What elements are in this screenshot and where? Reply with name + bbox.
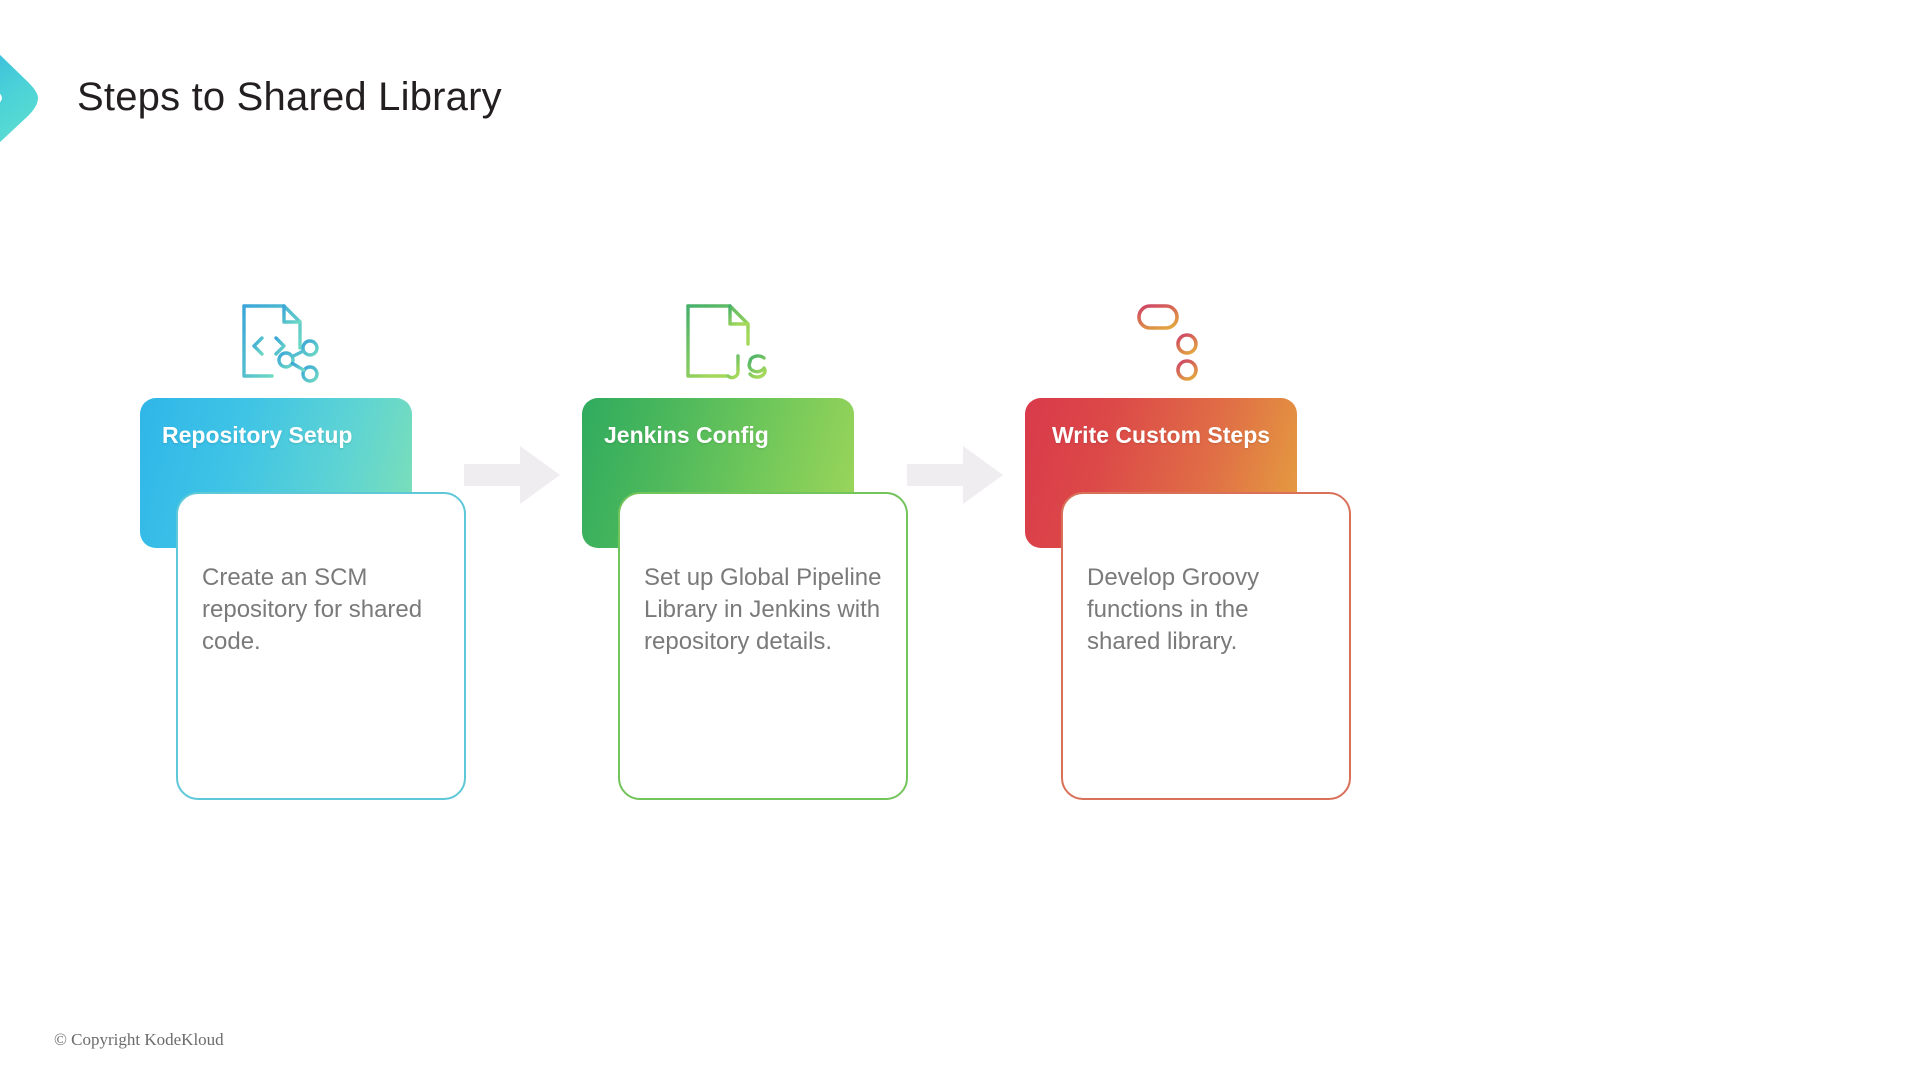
step-3-header-label: Write Custom Steps (1052, 420, 1270, 451)
arrow-right-block-icon-2 (905, 440, 1005, 510)
step-1-body-text: Create an SCM repository for shared code… (202, 562, 442, 658)
step-2-header-label: Jenkins Config (600, 420, 836, 451)
step-2-body-text: Set up Global Pipeline Library in Jenkin… (644, 562, 884, 658)
process-step-3[interactable]: Write Custom Steps Develop Groovy functi… (1025, 300, 1355, 820)
js-file-icon (674, 300, 770, 386)
page-title: Steps to Shared Library (77, 75, 502, 120)
step-1-body: Create an SCM repository for shared code… (176, 492, 466, 800)
step-2-body: Set up Global Pipeline Library in Jenkin… (618, 492, 908, 800)
arrow-right-block-icon-1 (462, 440, 562, 510)
branch-tree-icon (1117, 300, 1213, 386)
process-step-2[interactable]: Jenkins Config Set up Global Pipeline Li… (582, 300, 912, 820)
step-3-body-text: Develop Groovy functions in the shared l… (1087, 562, 1327, 658)
process-flow-diagram: Repository Setup Create an SCM repositor… (0, 300, 1920, 860)
step-3-body: Develop Groovy functions in the shared l… (1061, 492, 1351, 800)
step-1-header-label: Repository Setup (158, 420, 394, 451)
process-step-1[interactable]: Repository Setup Create an SCM repositor… (140, 300, 470, 820)
code-file-share-icon (232, 300, 328, 386)
footer-copyright: © Copyright KodeKloud (54, 1030, 224, 1050)
brand-chevron-logo (0, 22, 62, 174)
